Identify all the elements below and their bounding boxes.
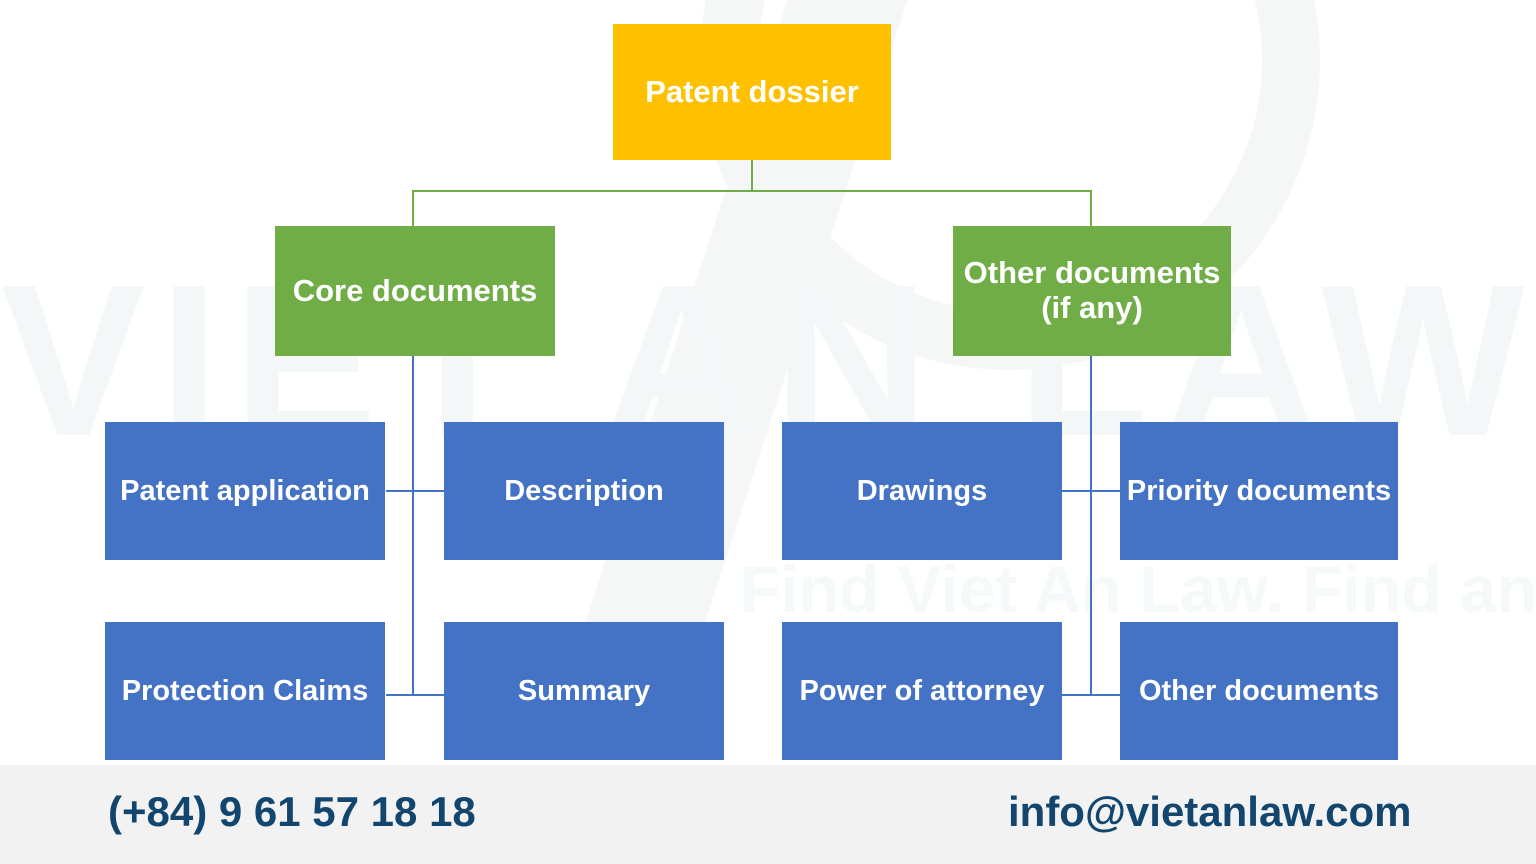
node-label: Patent application — [120, 475, 370, 507]
footer-phone-text[interactable]: (+84) 9 61 57 18 18 — [108, 787, 476, 837]
node-label: Core documents — [293, 274, 538, 309]
connector-core-arm-row1 — [386, 490, 444, 492]
footer-email-text[interactable]: info@vietanlaw.com — [1008, 787, 1411, 837]
node-power-of-attorney[interactable]: Power of attorney — [782, 622, 1062, 760]
node-description[interactable]: Description — [444, 422, 724, 560]
org-chart: Patent dossier Core documents Other docu… — [0, 0, 1536, 864]
node-patent-dossier[interactable]: Patent dossier — [613, 24, 891, 160]
contact-footer: (+84) 9 61 57 18 18 info@vietanlaw.com — [0, 765, 1536, 864]
slide-canvas: VIET AN LAW Find Viet An Law. Find answe… — [0, 0, 1536, 864]
node-label: Other documents (if any) — [957, 256, 1227, 325]
node-priority-documents[interactable]: Priority documents — [1120, 422, 1398, 560]
connector-root-down — [751, 160, 753, 192]
node-label: Other documents — [1139, 675, 1379, 707]
connector-core-spine — [412, 356, 414, 696]
node-summary[interactable]: Summary — [444, 622, 724, 760]
connector-core-arm-row2 — [386, 694, 444, 696]
node-label: Priority documents — [1127, 475, 1391, 507]
connector-bus-to-core — [412, 190, 414, 226]
node-label: Power of attorney — [800, 675, 1045, 707]
node-label: Patent dossier — [645, 75, 859, 110]
node-protection-claims[interactable]: Protection Claims — [105, 622, 385, 760]
connector-branch-bus — [412, 190, 1092, 192]
connector-bus-to-other — [1090, 190, 1092, 226]
node-label: Drawings — [857, 475, 988, 507]
node-other-documents-leaf[interactable]: Other documents — [1120, 622, 1398, 760]
node-label: Summary — [518, 675, 650, 707]
node-label: Protection Claims — [122, 675, 369, 707]
node-label: Description — [504, 475, 664, 507]
connector-other-arm-row1 — [1062, 490, 1120, 492]
node-other-documents[interactable]: Other documents (if any) — [953, 226, 1231, 356]
connector-other-spine — [1090, 356, 1092, 696]
node-patent-application[interactable]: Patent application — [105, 422, 385, 560]
connector-other-arm-row2 — [1062, 694, 1120, 696]
node-core-documents[interactable]: Core documents — [275, 226, 555, 356]
node-drawings[interactable]: Drawings — [782, 422, 1062, 560]
